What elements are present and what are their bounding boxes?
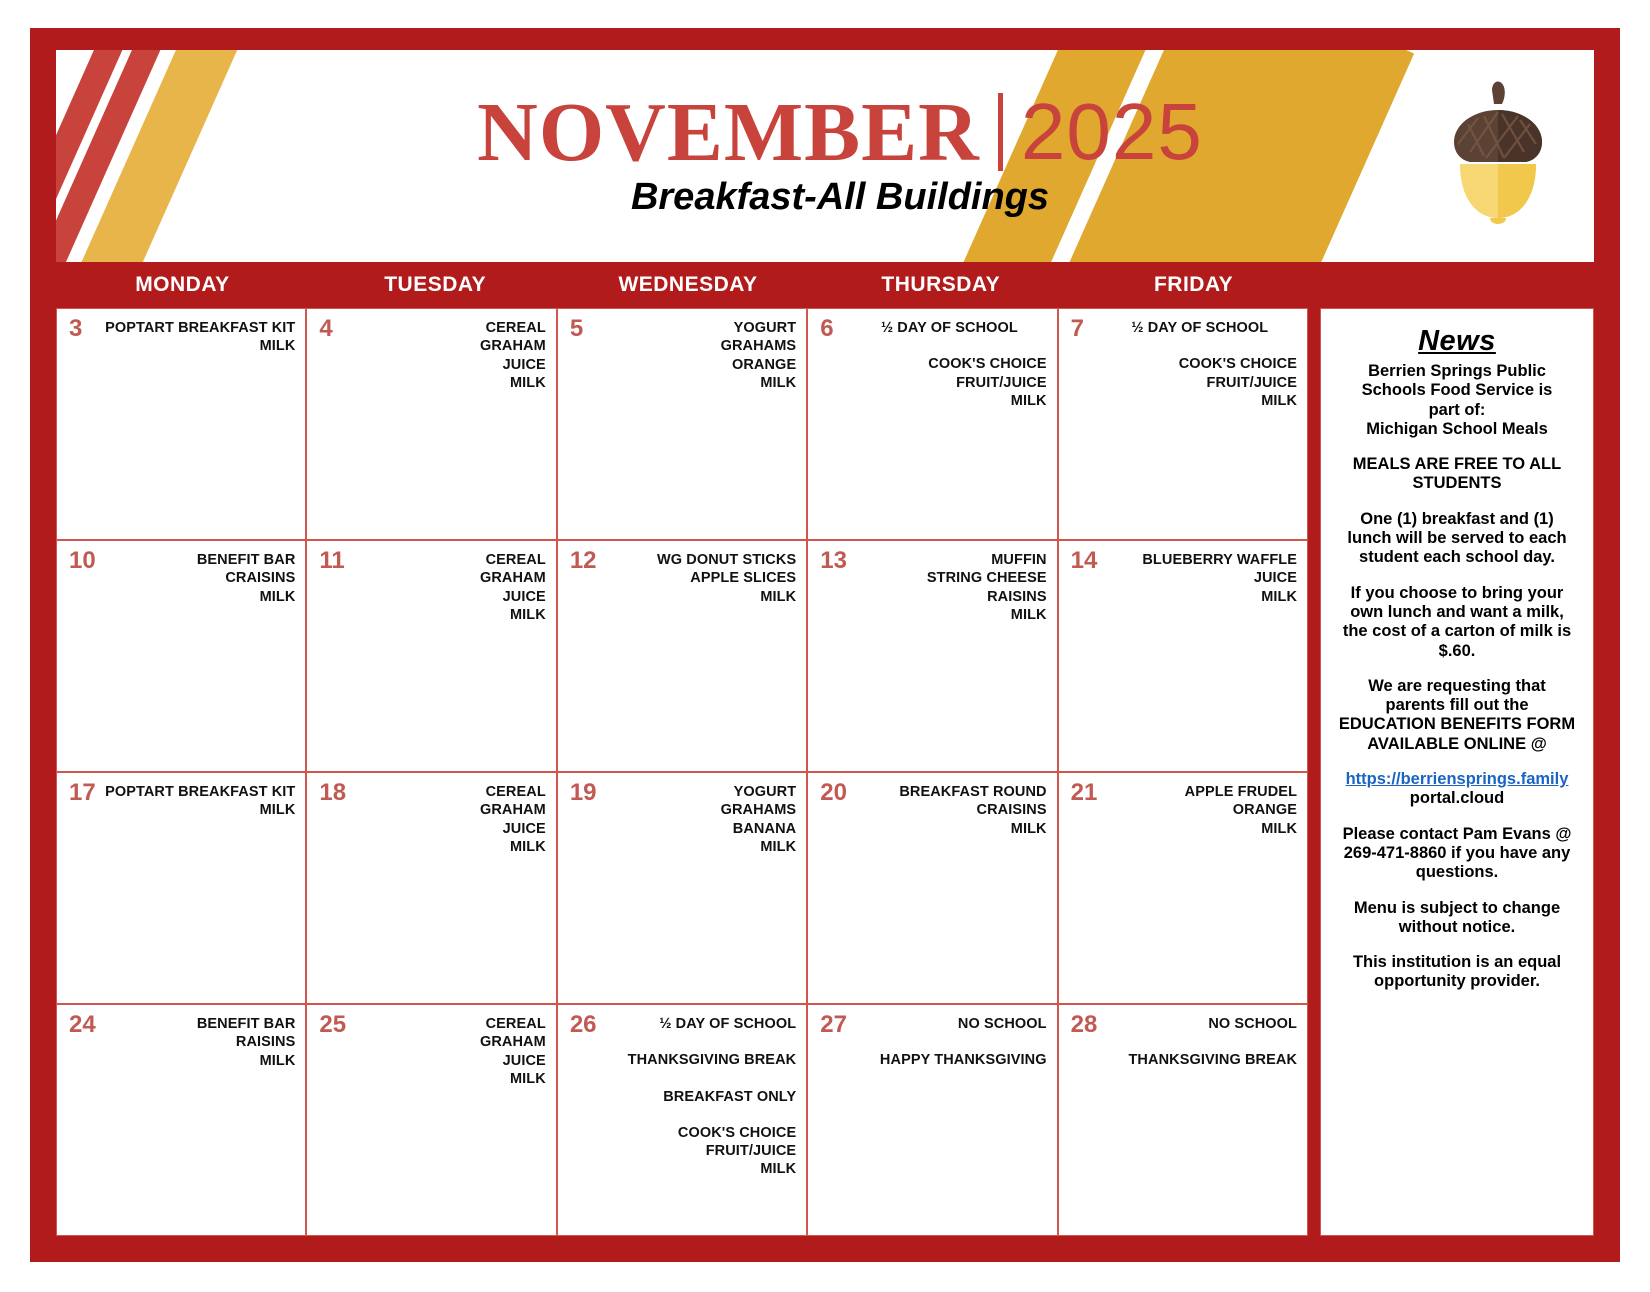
menu-item: MUFFIN [852,551,1046,569]
menu-item: NO SCHOOL [852,1015,1046,1033]
menu-item: MILK [602,838,796,856]
calendar-page: NOVEMBER 2025 Breakfast-All Buildings [0,0,1650,1292]
news-line: Schools Food Service is [1335,381,1579,400]
news-line: questions. [1335,863,1579,882]
menu-item-list: NO SCHOOLTHANKSGIVING BREAK [1103,1015,1297,1070]
red-frame: NOVEMBER 2025 Breakfast-All Buildings [30,28,1620,1262]
day-number: 24 [69,1013,96,1037]
menu-item: GRAHAMS [602,337,796,355]
news-line: part of: [1335,401,1579,420]
menu-item-list: POPTART BREAKFAST KITMILK [101,783,295,820]
menu-item: CEREAL [351,551,545,569]
menu-item: HAPPY THANKSGIVING [852,1051,1046,1069]
day-cell-11[interactable]: 11CEREALGRAHAMJUICEMILK [307,541,557,771]
menu-item: FRUIT/JUICE [602,1142,796,1160]
day-number: 10 [69,549,96,573]
day-cell-25[interactable]: 25CEREALGRAHAMJUICEMILK [307,1005,557,1235]
news-line: This institution is an equal [1335,953,1579,972]
news-line: AVAILABLE ONLINE @ [1335,735,1579,754]
day-number: 26 [570,1013,597,1037]
day-cell-24[interactable]: 24BENEFIT BARRAISINSMILK [57,1005,307,1235]
menu-item: GRAHAM [351,801,545,819]
menu-item: BENEFIT BAR [101,551,295,569]
menu-item: APPLE SLICES [602,569,796,587]
menu-item-list: BREAKFAST ROUNDCRAISINSMILK [852,783,1046,838]
menu-item-list: NO SCHOOLHAPPY THANKSGIVING [852,1015,1046,1070]
news-line: Menu is subject to change [1335,899,1579,918]
banner: NOVEMBER 2025 Breakfast-All Buildings [56,50,1594,262]
day-number: 19 [570,781,597,805]
menu-item-list: YOGURTGRAHAMSORANGEMILK [602,319,796,392]
menu-item-list: CEREALGRAHAMJUICEMILK [351,319,545,392]
day-cell-4[interactable]: 4CEREALGRAHAMJUICEMILK [307,309,557,539]
calendar-grid: 3POPTART BREAKFAST KITMILK4CEREALGRAHAMJ… [56,308,1308,1236]
day-number: 18 [319,781,346,805]
news-paragraph-benefits-form: We are requesting thatparents fill out t… [1335,677,1579,754]
day-number: 21 [1071,781,1098,805]
year-title: 2025 [1021,94,1203,170]
menu-item: ½ DAY OF SCHOOL [852,319,1046,337]
menu-item: GRAHAM [351,337,545,355]
day-cell-20[interactable]: 20BREAKFAST ROUNDCRAISINSMILK [808,773,1058,1003]
menu-item: FRUIT/JUICE [1103,374,1297,392]
menu-item-list: ½ DAY OF SCHOOLTHANKSGIVING BREAKBREAKFA… [602,1015,796,1179]
menu-item: JUICE [351,588,545,606]
menu-item: BLUEBERRY WAFFLE [1103,551,1297,569]
day-cell-14[interactable]: 14BLUEBERRY WAFFLEJUICEMILK [1059,541,1307,771]
menu-item: MILK [351,838,545,856]
menu-item-list: CEREALGRAHAMJUICEMILK [351,783,545,856]
news-line: We are requesting that [1335,677,1579,696]
menu-item: STRING CHEESE [852,569,1046,587]
education-benefits-link-tail: portal.cloud [1335,789,1579,808]
day-number: 14 [1071,549,1098,573]
news-line: student each school day. [1335,548,1579,567]
menu-item: MILK [602,1160,796,1178]
menu-item: ½ DAY OF SCHOOL [602,1015,796,1033]
news-paragraph-contact: Please contact Pam Evans @269-471-8860 i… [1335,825,1579,883]
day-number: 27 [820,1013,847,1037]
news-line: $.60. [1335,642,1579,661]
calendar-week-row: 3POPTART BREAKFAST KITMILK4CEREALGRAHAMJ… [57,309,1307,541]
menu-item: RAISINS [101,1033,295,1051]
menu-item: GRAHAMS [602,801,796,819]
news-heading: News [1335,325,1579,358]
menu-item: MILK [351,1070,545,1088]
news-line: STUDENTS [1335,474,1579,493]
menu-item: RAISINS [852,588,1046,606]
menu-item-list: BLUEBERRY WAFFLEJUICEMILK [1103,551,1297,606]
menu-item: CEREAL [351,1015,545,1033]
menu-item: BENEFIT BAR [101,1015,295,1033]
menu-item-list: YOGURTGRAHAMSBANANAMILK [602,783,796,856]
menu-item: JUICE [351,1052,545,1070]
month-title: NOVEMBER [477,93,980,173]
day-number: 4 [319,317,332,341]
news-paragraph-free-meals: MEALS ARE FREE TO ALLSTUDENTS [1335,455,1579,494]
menu-item: WG DONUT STICKS [602,551,796,569]
news-paragraph-one-each: One (1) breakfast and (1)lunch will be s… [1335,510,1579,568]
day-cell-19[interactable]: 19YOGURTGRAHAMSBANANAMILK [558,773,808,1003]
menu-item-list: BENEFIT BARRAISINSMILK [101,1015,295,1070]
day-cell-28[interactable]: 28NO SCHOOLTHANKSGIVING BREAK [1059,1005,1307,1235]
menu-item: POPTART BREAKFAST KIT [101,319,295,337]
menu-item-list: BENEFIT BARCRAISINSMILK [101,551,295,606]
menu-item: MILK [101,337,295,355]
calendar-week-row: 24BENEFIT BARRAISINSMILK25CEREALGRAHAMJU… [57,1005,1307,1235]
acorn-icon [1434,78,1562,228]
menu-item: MILK [602,588,796,606]
news-line: own lunch and want a milk, [1335,603,1579,622]
news-paragraph-milk-cost: If you choose to bring yourown lunch and… [1335,584,1579,661]
day-number: 7 [1071,317,1084,341]
menu-item: YOGURT [602,783,796,801]
news-sidebar: News Berrien Springs PublicSchools Food … [1320,308,1594,1236]
day-cell-12[interactable]: 12WG DONUT STICKSAPPLE SLICESMILK [558,541,808,771]
menu-item: CRAISINS [101,569,295,587]
menu-item: ½ DAY OF SCHOOL [1103,319,1297,337]
day-number: 28 [1071,1013,1098,1037]
menu-item: ORANGE [602,356,796,374]
weekday-header-row: MONDAY TUESDAY WEDNESDAY THURSDAY FRIDAY [56,262,1594,308]
menu-item: YOGURT [602,319,796,337]
calendar-week-row: 17POPTART BREAKFAST KITMILK18CEREALGRAHA… [57,773,1307,1005]
news-line: If you choose to bring your [1335,584,1579,603]
day-cell-26[interactable]: 26½ DAY OF SCHOOLTHANKSGIVING BREAKBREAK… [558,1005,808,1235]
day-cell-3[interactable]: 3POPTART BREAKFAST KITMILK [57,309,307,539]
page-subtitle: Breakfast-All Buildings [631,176,1049,219]
menu-item: COOK'S CHOICE [852,355,1046,373]
day-number: 17 [69,781,96,805]
news-line: without notice. [1335,918,1579,937]
menu-item: MILK [1103,588,1297,606]
day-cell-7[interactable]: 7½ DAY OF SCHOOLCOOK'S CHOICEFRUIT/JUICE… [1059,309,1307,539]
menu-item: GRAHAM [351,1033,545,1051]
day-cell-21[interactable]: 21APPLE FRUDELORANGEMILK [1059,773,1307,1003]
news-line: Michigan School Meals [1335,420,1579,439]
menu-item: APPLE FRUDEL [1103,783,1297,801]
menu-item: MILK [1103,392,1297,410]
menu-item-list: ½ DAY OF SCHOOLCOOK'S CHOICEFRUIT/JUICEM… [852,319,1046,410]
calendar-body: 3POPTART BREAKFAST KITMILK4CEREALGRAHAMJ… [56,308,1594,1236]
menu-item: MILK [101,1052,295,1070]
education-benefits-link[interactable]: https://berriensprings.family [1335,770,1579,789]
menu-item: MILK [101,801,295,819]
news-line: 269-471-8860 if you have any [1335,844,1579,863]
calendar-week-row: 10BENEFIT BARCRAISINSMILK11CEREALGRAHAMJ… [57,541,1307,773]
news-line: Berrien Springs Public [1335,362,1579,381]
menu-item-list: CEREALGRAHAMJUICEMILK [351,551,545,624]
day-number: 3 [69,317,82,341]
menu-item: FRUIT/JUICE [852,374,1046,392]
menu-item: THANKSGIVING BREAK [602,1051,796,1069]
news-line: lunch will be served to each [1335,529,1579,548]
menu-item: BREAKFAST ONLY [602,1088,796,1106]
news-paragraph-portal-link: https://berriensprings.familyportal.clou… [1335,770,1579,809]
news-paragraph-subject-to-change: Menu is subject to changewithout notice. [1335,899,1579,938]
menu-item: THANKSGIVING BREAK [1103,1051,1297,1069]
day-number: 5 [570,317,583,341]
menu-item: ORANGE [1103,801,1297,819]
menu-item: MILK [351,374,545,392]
menu-item: MILK [101,588,295,606]
menu-item: MILK [852,606,1046,624]
day-cell-6[interactable]: 6½ DAY OF SCHOOLCOOK'S CHOICEFRUIT/JUICE… [808,309,1058,539]
news-line: the cost of a carton of milk is [1335,622,1579,641]
news-line: One (1) breakfast and (1) [1335,510,1579,529]
day-number: 25 [319,1013,346,1037]
menu-item: MILK [852,820,1046,838]
title-divider [998,93,1003,171]
menu-item-list: WG DONUT STICKSAPPLE SLICESMILK [602,551,796,606]
weekday-friday: FRIDAY [1067,273,1320,297]
news-line: parents fill out the [1335,696,1579,715]
title-row: NOVEMBER 2025 [477,93,1203,173]
day-cell-13[interactable]: 13MUFFINSTRING CHEESERAISINSMILK [808,541,1058,771]
menu-item: POPTART BREAKFAST KIT [101,783,295,801]
news-line: Please contact Pam Evans @ [1335,825,1579,844]
menu-item: MILK [602,374,796,392]
menu-item-list: POPTART BREAKFAST KITMILK [101,319,295,356]
menu-item: MILK [1103,820,1297,838]
day-cell-5[interactable]: 5YOGURTGRAHAMSORANGEMILK [558,309,808,539]
menu-item: JUICE [351,820,545,838]
day-number: 12 [570,549,597,573]
news-paragraph-org: Berrien Springs PublicSchools Food Servi… [1335,362,1579,439]
menu-item: COOK'S CHOICE [602,1124,796,1142]
menu-item: GRAHAM [351,569,545,587]
news-line: opportunity provider. [1335,972,1579,991]
news-body: Berrien Springs PublicSchools Food Servi… [1335,362,1579,992]
day-cell-18[interactable]: 18CEREALGRAHAMJUICEMILK [307,773,557,1003]
day-number: 13 [820,549,847,573]
menu-item: CRAISINS [852,801,1046,819]
weekday-tuesday: TUESDAY [309,273,562,297]
day-cell-17[interactable]: 17POPTART BREAKFAST KITMILK [57,773,307,1003]
menu-item-list: APPLE FRUDELORANGEMILK [1103,783,1297,838]
day-number: 20 [820,781,847,805]
menu-item: JUICE [1103,569,1297,587]
news-line: MEALS ARE FREE TO ALL [1335,455,1579,474]
menu-item-list: ½ DAY OF SCHOOLCOOK'S CHOICEFRUIT/JUICEM… [1103,319,1297,410]
menu-item: NO SCHOOL [1103,1015,1297,1033]
menu-item-list: MUFFINSTRING CHEESERAISINSMILK [852,551,1046,624]
weekday-thursday: THURSDAY [814,273,1067,297]
day-number: 11 [319,549,344,573]
menu-item: MILK [351,606,545,624]
menu-item: COOK'S CHOICE [1103,355,1297,373]
weekday-wednesday: WEDNESDAY [562,273,815,297]
banner-text: NOVEMBER 2025 Breakfast-All Buildings [56,50,1594,262]
menu-item: BREAKFAST ROUND [852,783,1046,801]
weekday-monday: MONDAY [56,273,309,297]
day-cell-27[interactable]: 27NO SCHOOLHAPPY THANKSGIVING [808,1005,1058,1235]
day-number: 6 [820,317,833,341]
day-cell-10[interactable]: 10BENEFIT BARCRAISINSMILK [57,541,307,771]
news-paragraph-equal-opportunity: This institution is an equalopportunity … [1335,953,1579,992]
news-line: EDUCATION BENEFITS FORM [1335,715,1579,734]
menu-item: CEREAL [351,319,545,337]
menu-item: BANANA [602,820,796,838]
menu-item: MILK [852,392,1046,410]
menu-item: JUICE [351,356,545,374]
menu-item-list: CEREALGRAHAMJUICEMILK [351,1015,545,1088]
menu-item: CEREAL [351,783,545,801]
